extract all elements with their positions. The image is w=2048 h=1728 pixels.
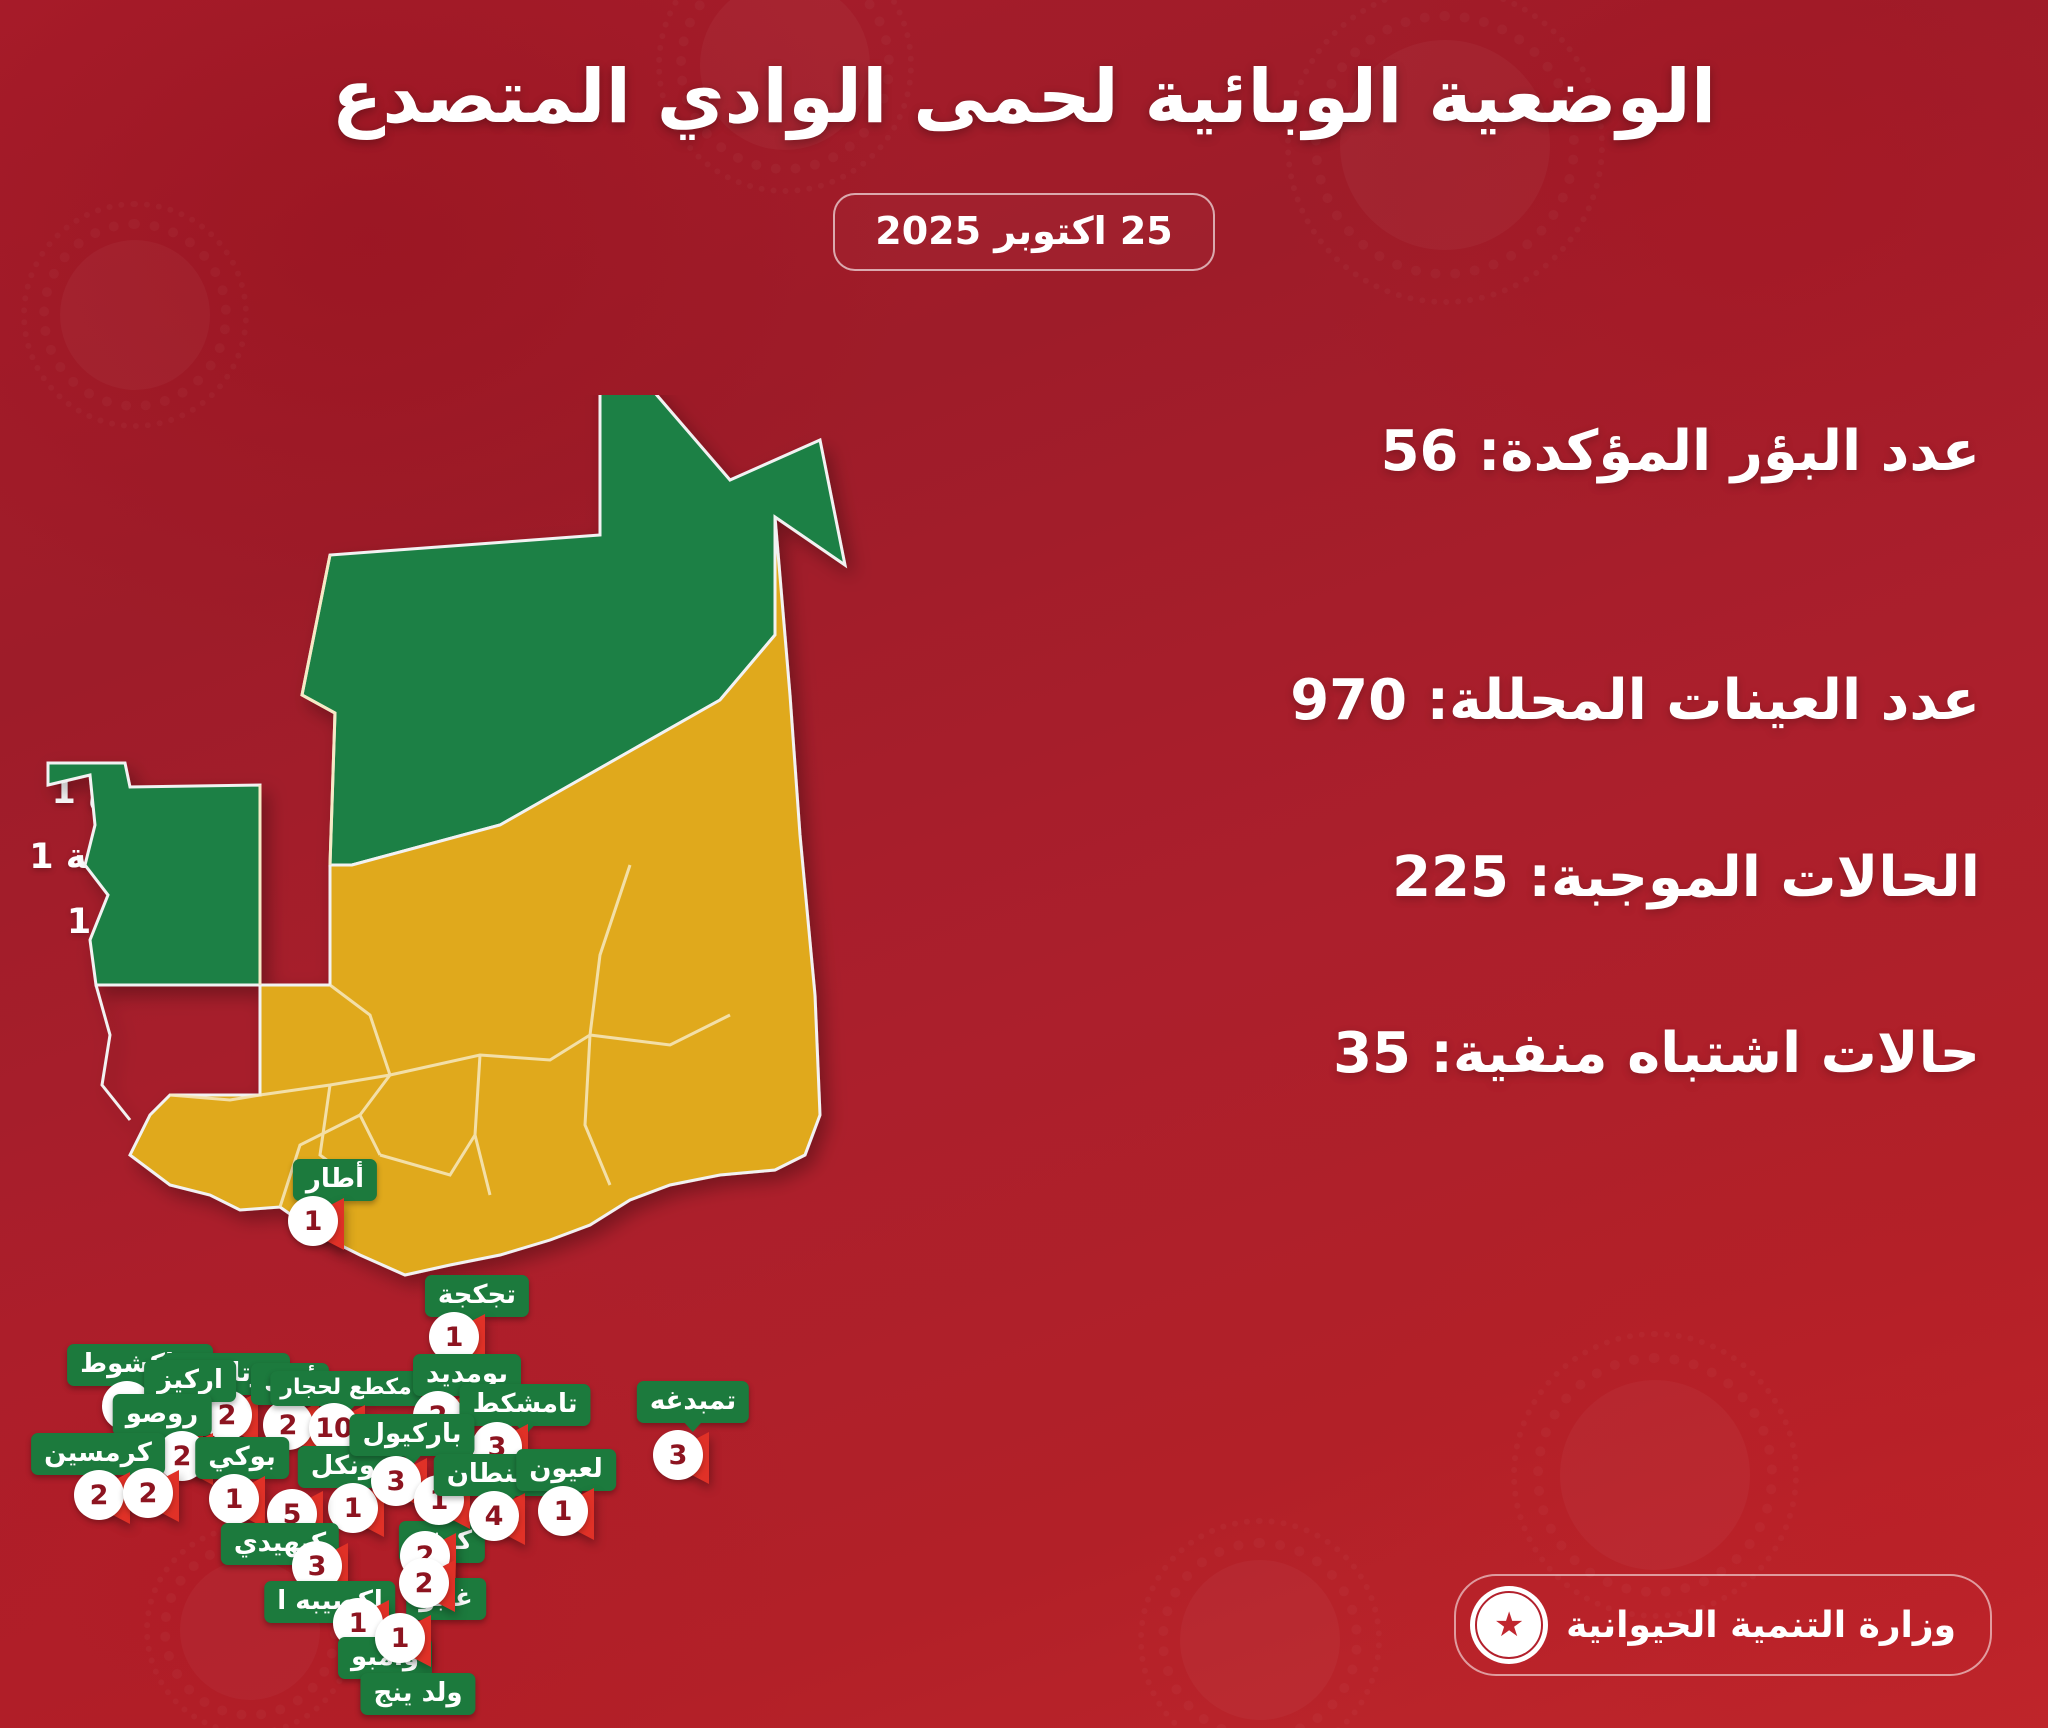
stat-positive-cases: الحالات الموجبة: 225	[1200, 846, 1980, 910]
pin-count: 2	[74, 1470, 124, 1520]
national-emblem-icon: ★	[1470, 1586, 1548, 1664]
virus-decoration-icon	[1180, 1560, 1340, 1720]
coast-notch	[96, 985, 130, 1120]
emblem-ring	[1475, 1591, 1543, 1659]
infographic-poster: الوضعية الوبائية لحمى الوادي المتصدع 25 …	[0, 0, 2048, 1728]
statistics-panel: عدد البؤر المؤكدة: 56 عدد العينات المحلل…	[1200, 420, 1980, 1087]
page-title: الوضعية الوبائية لحمى الوادي المتصدع	[0, 52, 2048, 142]
stat-negative-suspected: حالات اشتباه منفية: 35	[1200, 1022, 1980, 1086]
map-tag-barkeol: باركيول	[349, 1414, 474, 1456]
map-pin-timbedra[interactable]: 3	[653, 1428, 715, 1486]
map-pin-wompou[interactable]: 1	[375, 1611, 437, 1669]
ministry-name: وزارة التنمية الحيوانية	[1566, 1605, 1956, 1646]
mauritania-map: أطار 1 تجكجة 1 نواكشوط 3 بوتلميت 2 ألاك …	[30, 395, 1090, 1665]
map-pin-tekane[interactable]: 2	[123, 1466, 185, 1524]
pin-count: 1	[538, 1486, 588, 1536]
pin-count: 2	[399, 1558, 449, 1608]
pin-count: 4	[469, 1491, 519, 1541]
stat-samples-analyzed: عدد العينات المحللة: 970	[1200, 669, 1980, 733]
pin-count: 1	[375, 1613, 425, 1663]
map-pin-boghe[interactable]: 1	[209, 1472, 271, 1530]
map-tag-timbedra: تمبدغه	[637, 1381, 749, 1423]
map-pin-atar[interactable]: 1	[288, 1194, 350, 1252]
pin-count: 1	[288, 1196, 338, 1246]
pin-count: 1	[209, 1474, 259, 1524]
pin-count: 2	[123, 1468, 173, 1518]
map-pin-tintane[interactable]: 4	[469, 1489, 531, 1547]
map-tag-ould-yenge: ولد ينج	[360, 1673, 475, 1715]
virus-decoration-icon	[1560, 1380, 1750, 1570]
map-pin-ghabou[interactable]: 2	[399, 1556, 461, 1614]
virus-decoration-icon	[60, 240, 210, 390]
date-badge: 25 اكتوبر 2025	[833, 193, 1215, 271]
map-pin-ayoun[interactable]: 1	[538, 1484, 600, 1542]
pin-count: 3	[653, 1430, 703, 1480]
region-west-green	[48, 763, 260, 985]
stat-confirmed-outbreaks: عدد البؤر المؤكدة: 56	[1200, 420, 1980, 484]
ministry-footer: وزارة التنمية الحيوانية ★	[1454, 1574, 1992, 1676]
